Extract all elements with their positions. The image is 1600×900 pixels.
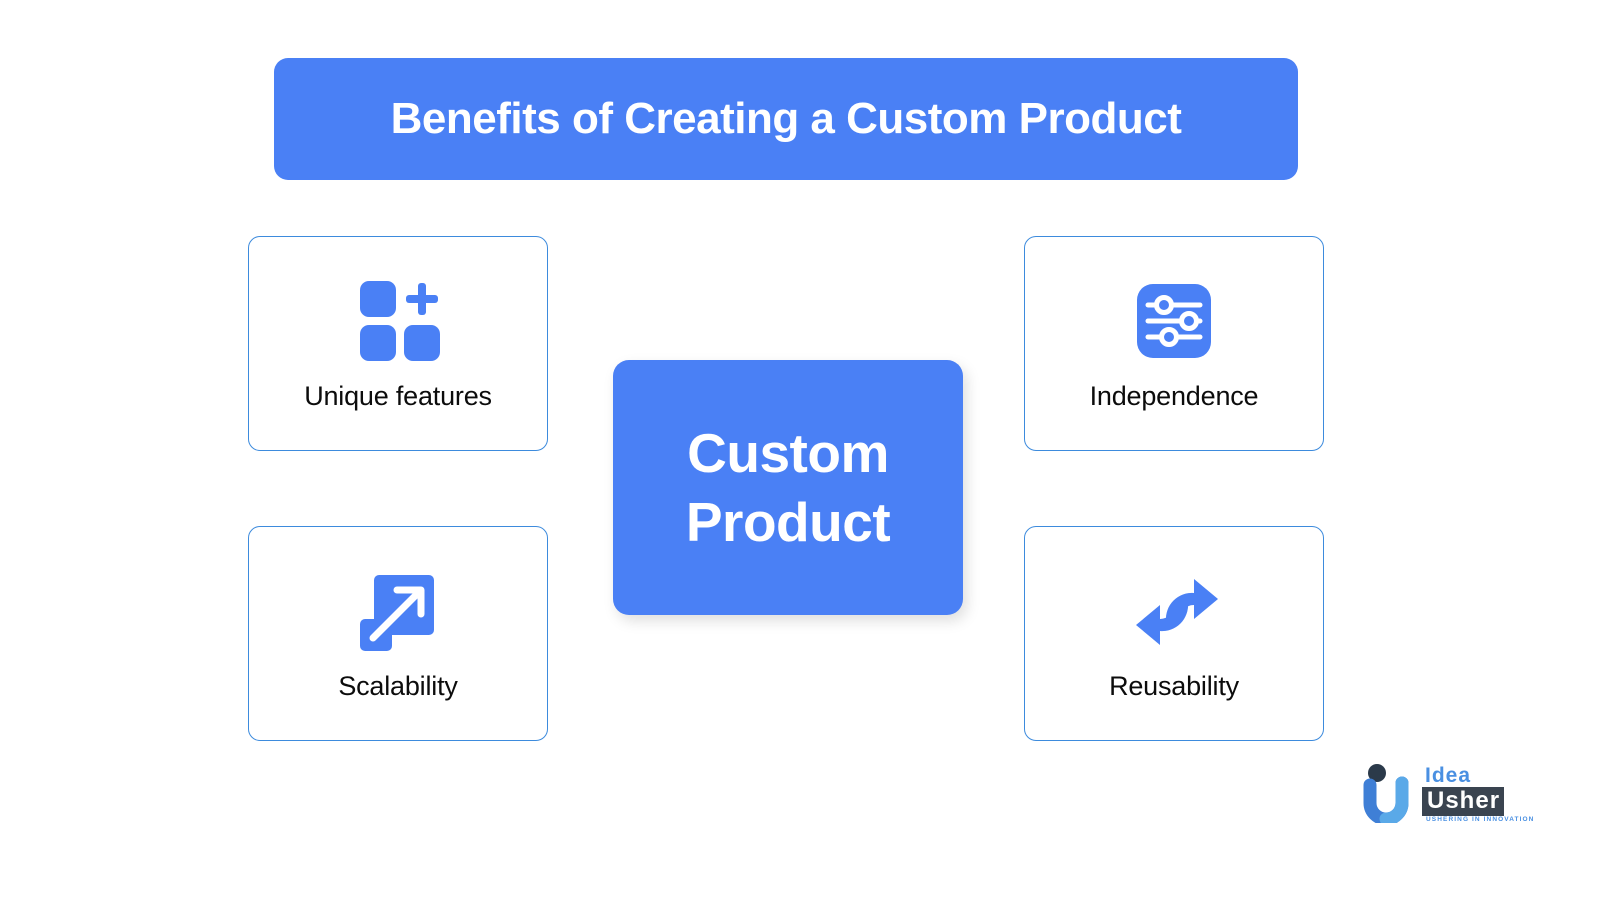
logo-word-idea: Idea: [1425, 765, 1471, 786]
logo-word-usher: Usher: [1422, 787, 1504, 816]
benefit-card-reusability[interactable]: Reusability: [1024, 526, 1324, 741]
center-hub-line-1: Custom: [686, 419, 890, 488]
idea-usher-mark-icon: [1362, 761, 1424, 823]
recycle-arrows-icon: [1124, 565, 1224, 657]
center-hub-text: Custom Product: [686, 419, 890, 557]
grid-plus-icon: [348, 275, 448, 367]
benefit-card-label: Unique features: [304, 381, 492, 412]
sliders-icon: [1124, 275, 1224, 367]
benefit-card-label: Scalability: [338, 671, 457, 702]
benefit-card-label: Reusability: [1109, 671, 1239, 702]
brand-logo: Idea Usher USHERING IN INNOVATION: [1362, 757, 1534, 829]
benefit-card-label: Independence: [1090, 381, 1259, 412]
expand-arrow-icon: [348, 565, 448, 657]
benefit-card-scalability[interactable]: Scalability: [248, 526, 548, 741]
page-title: Benefits of Creating a Custom Product: [391, 95, 1182, 143]
logo-tagline: USHERING IN INNOVATION: [1426, 816, 1534, 823]
benefit-card-independence[interactable]: Independence: [1024, 236, 1324, 451]
center-hub-card: Custom Product: [613, 360, 963, 615]
center-hub-line-2: Product: [686, 488, 890, 557]
benefit-card-unique-features[interactable]: Unique features: [248, 236, 548, 451]
page-title-banner: Benefits of Creating a Custom Product: [274, 58, 1298, 180]
